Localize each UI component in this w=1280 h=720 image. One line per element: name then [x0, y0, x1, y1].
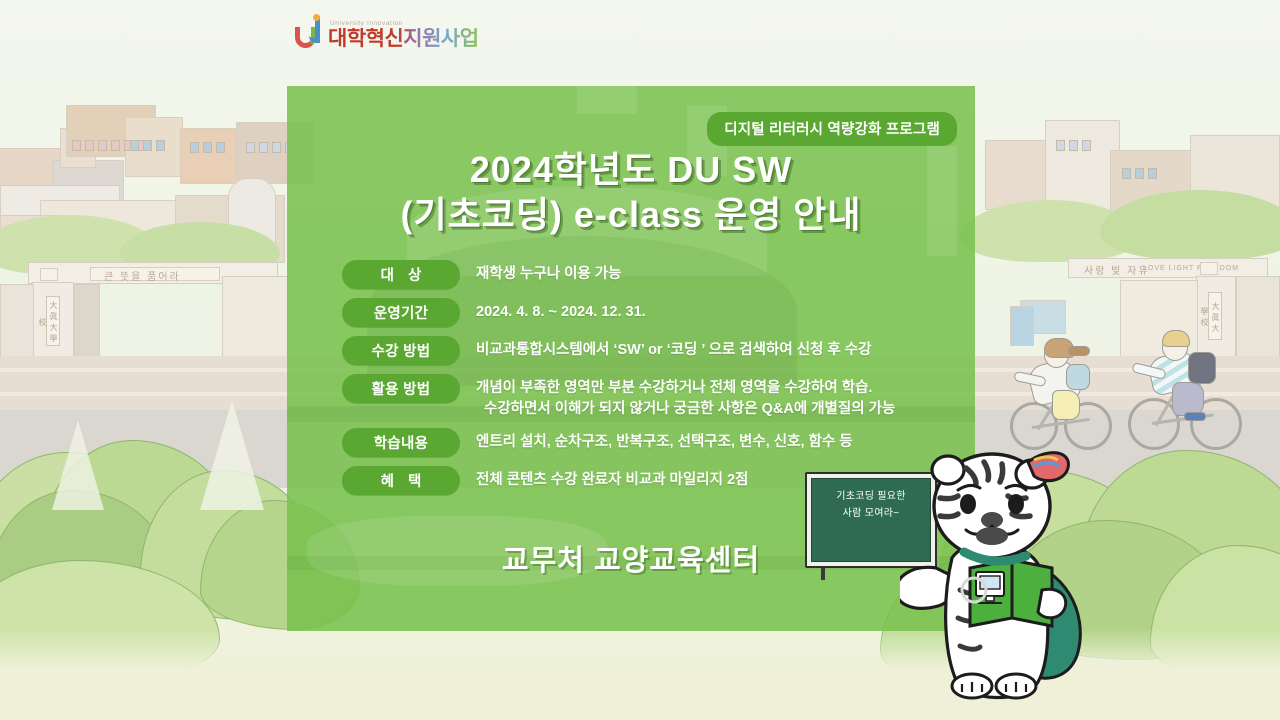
cyclist-leg — [1052, 390, 1080, 420]
right-gate-icon-box — [1200, 262, 1218, 275]
tiger-head-stripe — [1000, 464, 1003, 482]
cyclist-backpack — [1066, 364, 1090, 390]
logo-text-block: University Innovation 대학혁신지원사업 — [328, 20, 479, 50]
conifer-tree — [200, 400, 264, 510]
info-row-content: 학습내용 엔트리 설치, 순차구조, 반복구조, 선택구조, 변수, 신호, 함… — [342, 428, 967, 458]
cyclist-backpack — [1188, 352, 1216, 384]
tiger-eye — [1008, 494, 1024, 514]
white-tiger-mascot — [900, 440, 1130, 710]
right-gate-sign-kr: 사랑 빛 자유 — [1084, 262, 1150, 277]
info-label-period: 운영기간 — [342, 298, 460, 327]
info-value-usage-line2: 수강하면서 이해가 되지 않거나 궁금한 사항은 Q&A에 개별질의 가능 — [476, 399, 967, 420]
left-gate-icon-box — [40, 268, 58, 281]
info-row-usage: 활용 방법 개념이 부족한 영역만 부분 수강하거나 전체 영역을 수강하여 학… — [342, 374, 967, 420]
cyclist-ponytail — [1068, 346, 1090, 356]
info-value-target: 재학생 누구나 이용 가능 — [460, 260, 967, 285]
tiger-illustration — [900, 440, 1130, 710]
conifer-tree — [52, 420, 104, 510]
logo-english-text: University Innovation — [330, 20, 479, 27]
window-row — [190, 142, 225, 153]
left-gate-wall — [0, 284, 34, 362]
title-line-2: (기초코딩) e-class 운영 안내 — [287, 192, 975, 238]
uj-monogram-icon — [295, 16, 323, 50]
right-gate-sign-en: LOVE LIGHT FREEDOM — [1143, 265, 1239, 272]
logo-korean-text: 대학혁신지원사업 — [328, 28, 479, 50]
info-value-period: 2024. 4. 8. ~ 2024. 12. 31. — [460, 298, 967, 323]
tiger-head-stripe — [940, 514, 958, 517]
computer-stand-icon — [986, 596, 994, 601]
info-value-usage: 개념이 부족한 영역만 부분 수강하거나 전체 영역을 수강하여 학습. 수강하… — [460, 374, 967, 420]
info-label-enrollment: 수강 방법 — [342, 336, 460, 365]
tiger-head-stripe — [940, 496, 958, 499]
info-row-period: 운영기간 2024. 4. 8. ~ 2024. 12. 31. — [342, 298, 967, 328]
logo-dot-shape — [313, 14, 320, 21]
tiger-head-stripe — [1012, 514, 1030, 517]
info-label-content: 학습내용 — [342, 428, 460, 457]
tiger-eye — [960, 494, 976, 514]
cyclist-hair — [1162, 330, 1190, 347]
info-label-benefit: 혜택 — [342, 466, 460, 495]
tiger-paw — [1038, 589, 1066, 618]
tiger-ear — [932, 456, 964, 484]
window-row — [1122, 168, 1157, 179]
window-row — [1056, 140, 1091, 151]
window-row — [130, 140, 165, 151]
info-value-enrollment: 비교과통합시스템에서 ‘SW’ or ‘코딩 ’ 으로 검색하여 신청 후 수강 — [460, 336, 967, 361]
blackboard-leg — [821, 568, 825, 580]
info-label-target: 대상 — [342, 260, 460, 289]
cyclist-leg — [1172, 382, 1204, 416]
info-value-usage-line1: 개념이 부족한 영역만 부분 수강하거나 전체 영역을 수강하여 학습. — [476, 380, 872, 396]
tiger-mouth — [976, 527, 1008, 545]
university-innovation-logo: University Innovation 대학혁신지원사업 — [295, 16, 479, 50]
left-gate-plaque: 大眞大學校 — [46, 296, 60, 346]
left-gate-wall — [222, 276, 288, 360]
program-badge: 디지털 리터러시 역량강화 프로그램 — [707, 112, 957, 146]
info-row-enrollment: 수강 방법 비교과통합시스템에서 ‘SW’ or ‘코딩 ’ 으로 검색하여 신… — [342, 336, 967, 366]
left-gate-pillar — [74, 284, 100, 360]
info-label-usage: 활용 방법 — [342, 374, 460, 403]
title-line-1: 2024학년도 DU SW — [287, 148, 975, 192]
left-gate-sign-text: 큰 뜻을 품어라 — [104, 268, 181, 283]
page-title: 2024학년도 DU SW (기초코딩) e-class 운영 안내 — [287, 148, 975, 238]
info-value-content: 엔트리 설치, 순차구조, 반복구조, 선택구조, 변수, 신호, 함수 등 — [460, 428, 967, 453]
info-row-target: 대상 재학생 누구나 이용 가능 — [342, 260, 967, 290]
poster-canvas: 큰 뜻을 품어라 大眞大學校 사랑 빛 자유 LOVE LIGHT FREEDO… — [0, 0, 1280, 720]
info-table: 대상 재학생 누구나 이용 가능 운영기간 2024. 4. 8. ~ 2024… — [342, 260, 967, 504]
cyclist-shoe — [1184, 412, 1206, 421]
